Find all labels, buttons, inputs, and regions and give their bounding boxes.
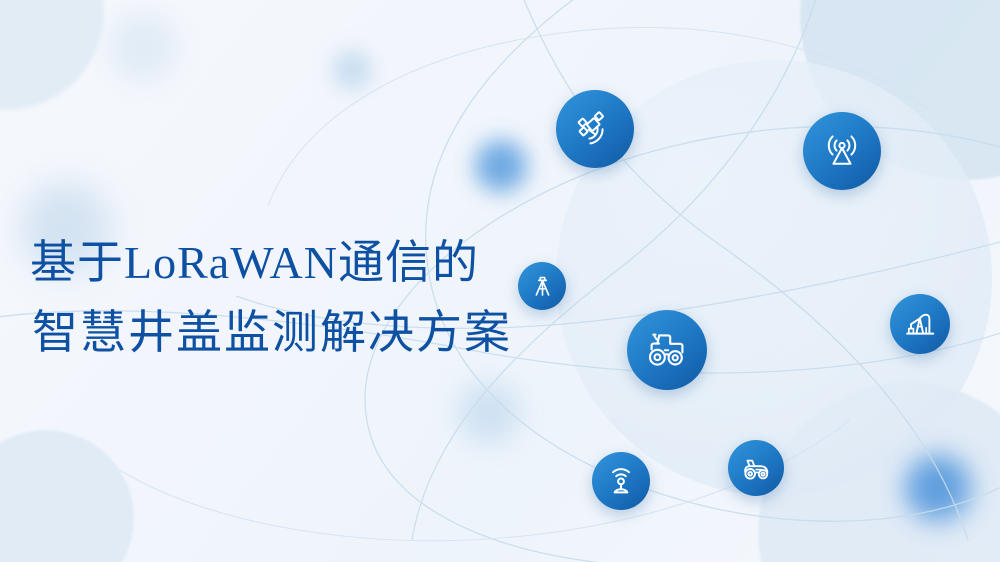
cover-slide: 基于LoRaWAN通信的 智慧井盖监测解决方案	[0, 0, 1000, 562]
decor-blob-bottom-right	[758, 382, 1000, 562]
title-block: 基于LoRaWAN通信的 智慧井盖监测解决方案	[30, 228, 570, 368]
harvester-vehicle-icon	[740, 452, 772, 484]
decor-dot-4	[475, 140, 527, 192]
node-harvester-vehicle[interactable]	[728, 440, 784, 496]
broadcast-antenna-icon	[821, 130, 863, 172]
decor-dot-5	[458, 382, 520, 444]
tractor-icon	[644, 327, 690, 373]
oil-pumpjack-icon	[903, 307, 937, 341]
node-wireless-sensor[interactable]	[592, 452, 650, 510]
slide-title-line-1: 基于LoRaWAN通信的	[30, 228, 570, 298]
decor-blob-bottom-left	[0, 430, 134, 562]
decor-dot-6	[905, 455, 971, 521]
node-oil-pumpjack[interactable]	[890, 294, 950, 354]
slide-title-line-2: 智慧井盖监测解决方案	[30, 298, 570, 368]
decor-blob-top-left	[0, 0, 104, 110]
wireless-sensor-icon	[605, 465, 637, 497]
decor-dot-1	[108, 12, 178, 82]
decor-dot-2	[332, 50, 372, 90]
node-broadcast-antenna[interactable]	[803, 112, 881, 190]
satellite-dish-icon	[575, 109, 615, 149]
node-tractor[interactable]	[627, 310, 707, 390]
node-satellite-dish[interactable]	[556, 90, 634, 168]
